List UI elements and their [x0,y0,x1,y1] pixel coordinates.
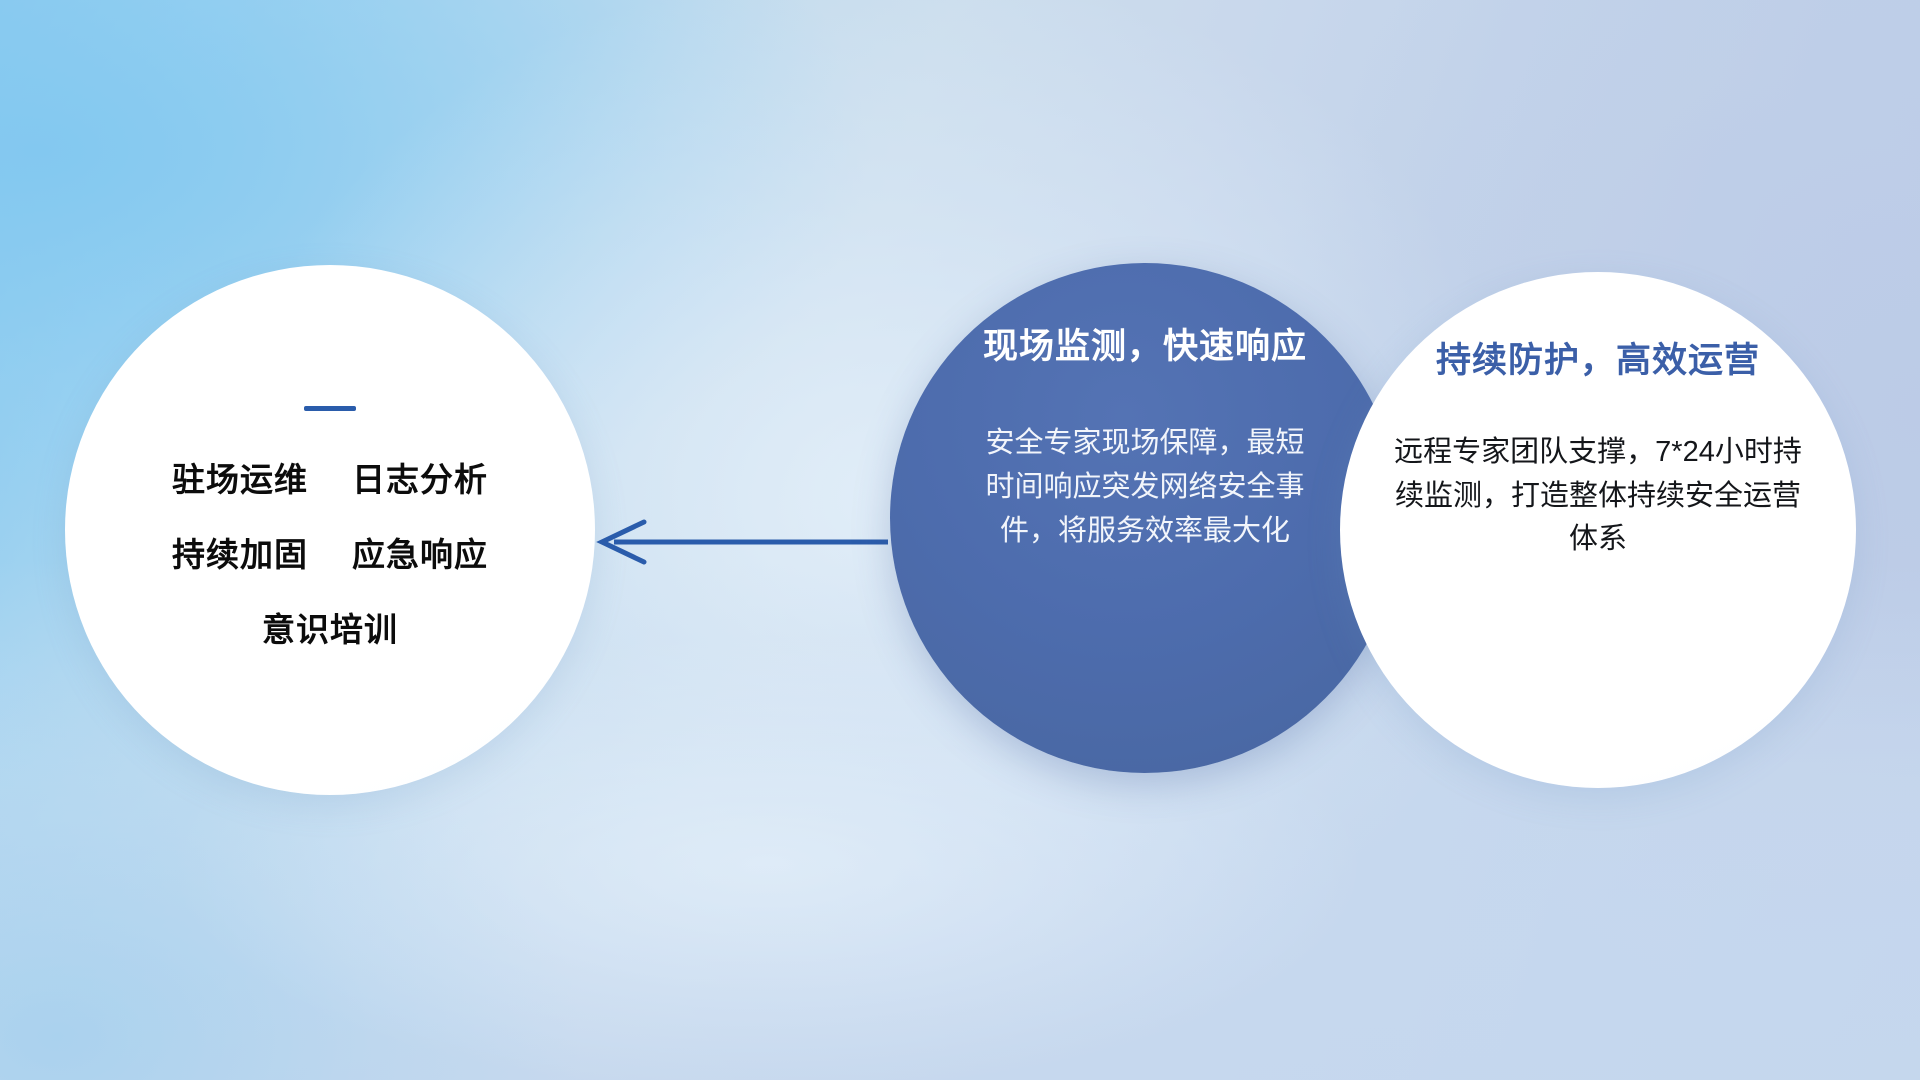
continuous-protection-heading: 持续防护，高效运营 [1436,332,1760,383]
capability-label[interactable]: 应急响应 [352,538,488,571]
capability-label[interactable]: 持续加固 [172,538,308,571]
divider-dash-icon [304,406,356,411]
flow-arrow-svg [588,512,888,572]
slide-canvas: 驻场运维 日志分析 持续加固 应急响应 意识培训 现场监测，快速响应 安全专家现… [0,0,1920,1080]
onsite-monitoring-circle[interactable]: 现场监测，快速响应 安全专家现场保障，最短时间响应突发网络安全事件，将服务效率最… [890,263,1400,773]
capability-label[interactable]: 驻场运维 [172,463,308,496]
continuous-protection-body: 远程专家团队支撑，7*24小时持续监测，打造整体持续安全运营体系 [1388,431,1808,562]
capabilities-content: 驻场运维 日志分析 持续加固 应急响应 意识培训 [65,406,595,646]
onsite-monitoring-heading: 现场监测，快速响应 [983,318,1307,369]
capability-label[interactable]: 意识培训 [262,613,398,646]
continuous-protection-circle[interactable]: 持续防护，高效运营 远程专家团队支撑，7*24小时持续监测，打造整体持续安全运营… [1340,272,1856,788]
capability-row-1: 驻场运维 日志分析 [65,463,595,496]
capability-row-2: 持续加固 应急响应 [65,538,595,571]
flow-arrow-left-icon [588,512,888,572]
capability-label[interactable]: 日志分析 [352,463,488,496]
onsite-monitoring-body: 安全专家现场保障，最短时间响应突发网络安全事件，将服务效率最大化 [980,421,1310,553]
capabilities-circle[interactable]: 驻场运维 日志分析 持续加固 应急响应 意识培训 [65,265,595,795]
capability-row-3: 意识培训 [65,613,595,646]
